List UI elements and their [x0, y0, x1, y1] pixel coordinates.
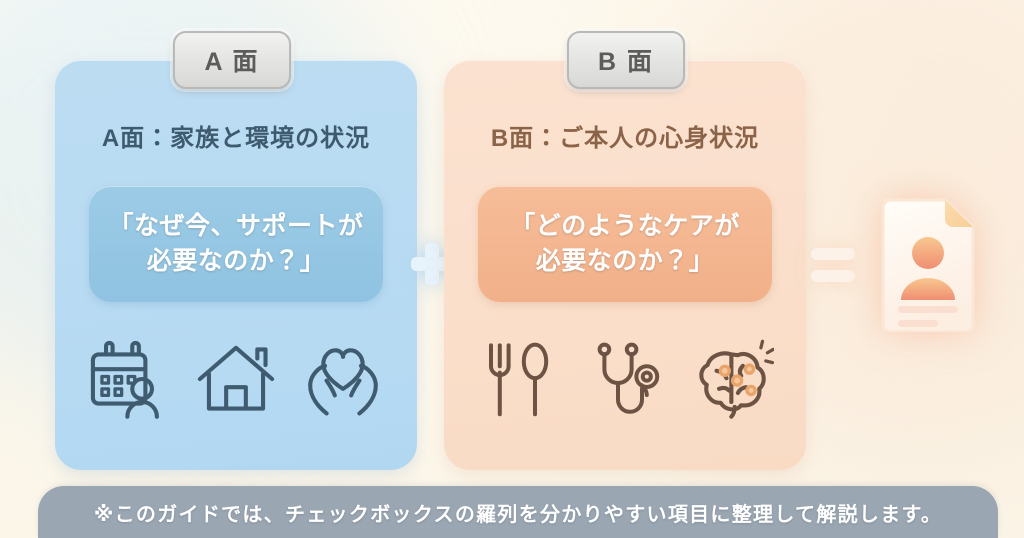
- stethoscope-icon: [583, 336, 669, 422]
- profile-document-icon: [873, 192, 983, 332]
- calendar-person-icon: [86, 336, 172, 422]
- panel-b-icon-row: [476, 336, 776, 422]
- fork-and-spoon-icon: [476, 336, 562, 422]
- badge-a-label: A 面: [204, 42, 259, 78]
- badge-a: A 面: [173, 31, 291, 89]
- equals-icon: [811, 248, 855, 282]
- heart-in-hands-icon: [300, 336, 386, 422]
- panel-b-question-line-1: 「どのようなケアが: [510, 209, 740, 245]
- panel-a-question-line-2: 必要なのか？」: [147, 244, 326, 280]
- caption-text: ※このガイドでは、チェックボックスの羅列を分かりやすい項目に整理して解説します。: [94, 498, 942, 527]
- panel-a-question: 「なぜ今、サポートが 必要なのか？」: [89, 186, 383, 302]
- badge-b: B 面: [567, 31, 685, 89]
- badge-b-label: B 面: [598, 42, 654, 78]
- panel-b-heading: B面：ご本人の心身状況: [444, 118, 806, 153]
- brain-sparkle-icon: [690, 336, 776, 422]
- equals-operator: [802, 238, 864, 292]
- panel-a-icon-row: [86, 336, 386, 422]
- panel-b-question: 「どのようなケアが 必要なのか？」: [478, 186, 772, 302]
- panel-a-heading: A面：家族と環境の状況: [55, 118, 417, 153]
- panel-a-question-line-1: 「なぜ今、サポートが: [108, 209, 363, 245]
- panel-b-question-line-2: 必要なのか？」: [536, 244, 715, 280]
- infographic-canvas: A 面 A面：家族と環境の状況 「なぜ今、サポートが 必要なのか？」: [0, 0, 1024, 538]
- caption-bar: ※このガイドでは、チェックボックスの羅列を分かりやすい項目に整理して解説します。: [38, 486, 998, 538]
- house-icon: [193, 336, 279, 422]
